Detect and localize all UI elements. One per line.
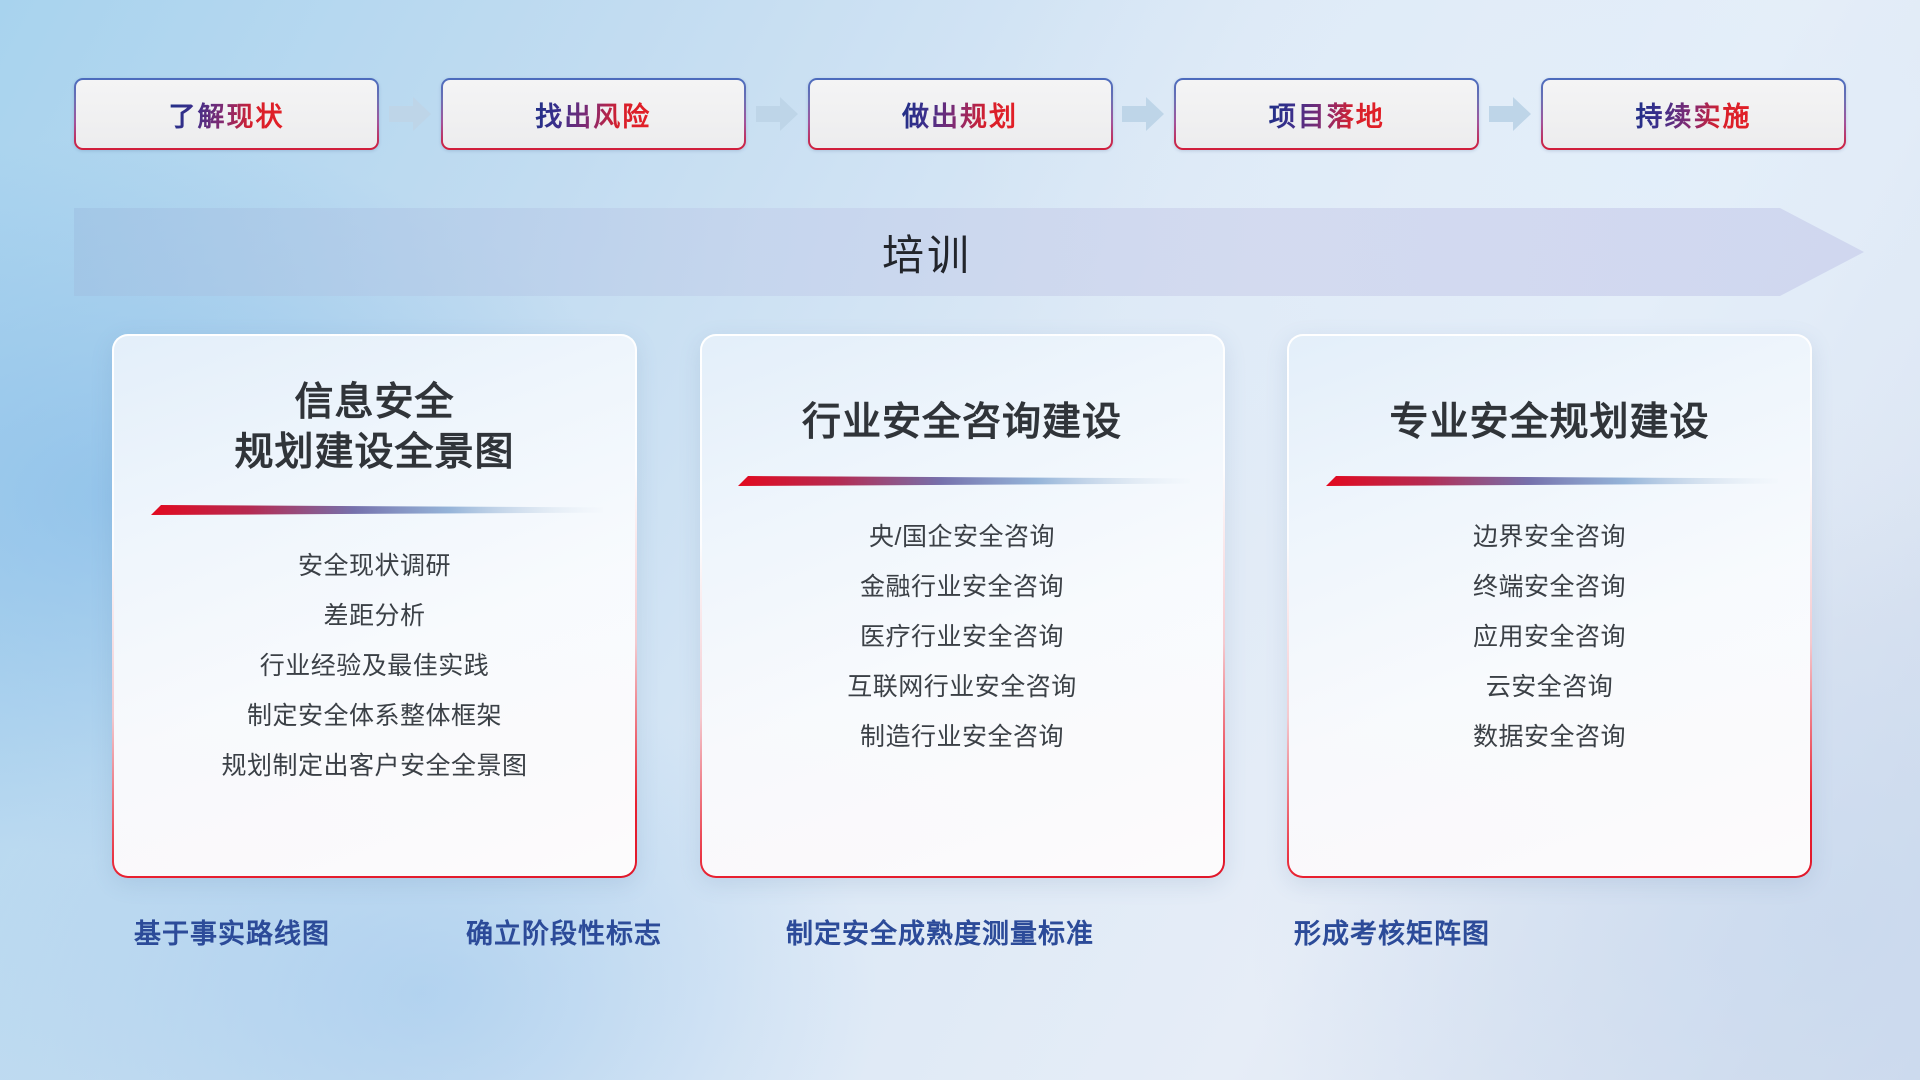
list-item: 云安全咨询 — [1486, 666, 1614, 709]
step-chip-inner: 项目落地 — [1176, 80, 1477, 148]
step-chip-inner: 做出规划 — [810, 80, 1111, 148]
step-chip-1[interactable]: 找出风险 — [441, 78, 746, 150]
card-industry-security-consulting[interactable]: 行业安全咨询建设 — [700, 334, 1225, 878]
card-information-security-panorama[interactable]: 信息安全 规划建设全景图 — [112, 334, 637, 878]
banner-title: 培训 — [74, 208, 1780, 296]
step-chip-inner: 了解现状 — [76, 80, 377, 148]
title-divider — [1322, 474, 1778, 488]
footer-label-2: 制定安全成熟度测量标准 — [786, 912, 1094, 951]
footer-label-0: 基于事实路线图 — [134, 912, 330, 951]
slide-canvas: 了解现状 找出风险 做出规划 — [0, 0, 1920, 1080]
list-item: 数据安全咨询 — [1473, 716, 1626, 759]
step-chip-0[interactable]: 了解现状 — [74, 78, 379, 150]
list-item: 安全现状调研 — [298, 545, 451, 588]
list-item: 制定安全体系整体框架 — [247, 695, 502, 738]
card-item-list: 央/国企安全咨询 金融行业安全咨询 医疗行业安全咨询 互联网行业安全咨询 制造行… — [702, 516, 1223, 759]
card-item-list: 边界安全咨询 终端安全咨询 应用安全咨询 云安全咨询 数据安全咨询 — [1289, 516, 1810, 759]
card-title: 专业安全规划建设 — [1389, 398, 1709, 448]
step-chip-inner: 持续实施 — [1543, 80, 1844, 148]
card-title: 信息安全 规划建设全景图 — [234, 378, 514, 477]
footer-label-row: 基于事实路线图 确立阶段性标志 制定安全成熟度测量标准 形成考核矩阵图 — [0, 912, 1920, 968]
training-banner: 培训 — [74, 208, 1864, 296]
step-chip-4[interactable]: 持续实施 — [1541, 78, 1846, 150]
step-label: 了解现状 — [169, 95, 285, 134]
step-label: 持续实施 — [1636, 95, 1752, 134]
list-item: 终端安全咨询 — [1473, 566, 1626, 609]
arrow-right-icon — [388, 96, 432, 132]
list-item: 互联网行业安全咨询 — [847, 666, 1077, 709]
card-inner: 行业安全咨询建设 — [702, 336, 1223, 876]
list-item: 医疗行业安全咨询 — [860, 616, 1064, 659]
list-item: 应用安全咨询 — [1473, 616, 1626, 659]
footer-label-3: 形成考核矩阵图 — [1294, 912, 1490, 951]
process-step-bar: 了解现状 找出风险 做出规划 — [74, 78, 1846, 150]
footer-label-1: 确立阶段性标志 — [466, 912, 662, 951]
step-label: 找出风险 — [535, 95, 651, 134]
card-item-list: 安全现状调研 差距分析 行业经验及最佳实践 制定安全体系整体框架 规划制定出客户… — [114, 545, 635, 788]
list-item: 差距分析 — [323, 595, 425, 638]
arrow-right-icon — [1121, 96, 1165, 132]
card-professional-security-planning[interactable]: 专业安全规划建设 — [1287, 334, 1812, 878]
card-inner: 信息安全 规划建设全景图 — [114, 336, 635, 876]
list-item: 制造行业安全咨询 — [860, 716, 1064, 759]
card-inner: 专业安全规划建设 — [1289, 336, 1810, 876]
list-item: 规划制定出客户安全全景图 — [221, 745, 527, 788]
list-item: 金融行业安全咨询 — [860, 566, 1064, 609]
arrow-right-icon — [1488, 96, 1532, 132]
step-label: 做出规划 — [902, 95, 1018, 134]
step-chip-inner: 找出风险 — [443, 80, 744, 148]
list-item: 行业经验及最佳实践 — [260, 645, 490, 688]
card-row: 信息安全 规划建设全景图 — [112, 334, 1812, 878]
title-divider — [734, 474, 1190, 488]
step-chip-3[interactable]: 项目落地 — [1174, 78, 1479, 150]
step-label: 项目落地 — [1269, 95, 1385, 134]
list-item: 边界安全咨询 — [1473, 516, 1626, 559]
card-title: 行业安全咨询建设 — [802, 398, 1122, 448]
title-divider — [147, 503, 603, 517]
list-item: 央/国企安全咨询 — [869, 516, 1055, 559]
step-chip-2[interactable]: 做出规划 — [808, 78, 1113, 150]
arrow-right-icon — [755, 96, 799, 132]
